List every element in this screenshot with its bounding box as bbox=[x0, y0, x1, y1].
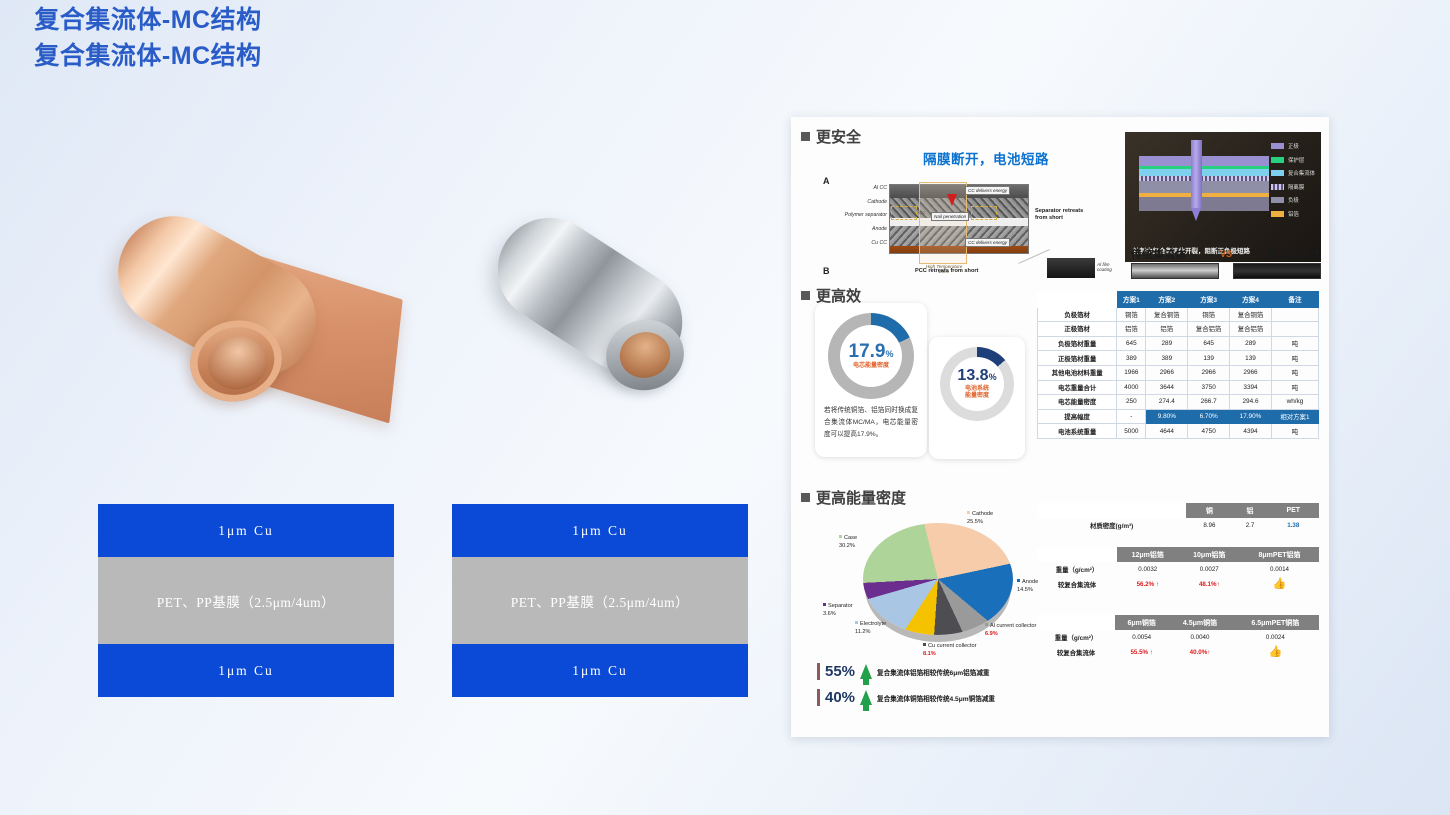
pie-label-case: Case 30.2% bbox=[839, 535, 857, 550]
scheme-comparison-table: 方案1 方案2 方案3 方案4 备注 负极箔材铜箔复合铜箔铜箔复合铜箔正极箔材铝… bbox=[1037, 291, 1319, 439]
cell: 铝箔 bbox=[1146, 322, 1188, 337]
figure-panel-a-label: A bbox=[823, 176, 830, 186]
donut-label-2: 电池系统 能量密度 bbox=[965, 386, 989, 401]
section-heading-safer-label: 更安全 bbox=[816, 126, 861, 147]
th-al-pet: 8μmPET铝箔 bbox=[1240, 547, 1319, 562]
donut-unit-1: % bbox=[885, 349, 893, 359]
donut-note-1: 若将传统铜箔、铝箔同时换成复合集流体MC/MA，电芯能量密度可以提高17.9%。 bbox=[815, 399, 927, 441]
separator-retreat-box-right bbox=[971, 206, 997, 220]
table-row: 正极箔材铝箔铝箔复合铝箔复合铝箔 bbox=[1038, 322, 1319, 337]
side-label-separator: Polymer separator bbox=[833, 213, 887, 218]
nail-penetration-animation-image: 针刺中复合集流体开裂，阻断正负极短路 正极 保护层 复合集流体 隔离膜 bbox=[1125, 132, 1321, 262]
pie-label-cathode: Cathode 25.5% bbox=[967, 511, 993, 526]
cell: 5000 bbox=[1117, 424, 1146, 439]
cell: 吨 bbox=[1271, 424, 1318, 439]
legend-item-negative: 负极 bbox=[1271, 196, 1315, 204]
donut-chart-system-density: 13.8% 电池系统 能量密度 bbox=[940, 347, 1014, 421]
row-label: 正极箔材重量 bbox=[1038, 351, 1117, 366]
cell: 9.80% bbox=[1146, 409, 1188, 424]
table-row: 提高幅度-9.80%6.70%17.90%相对方案1 bbox=[1038, 409, 1319, 424]
legend-label-separator: 隔离膜 bbox=[1288, 183, 1304, 191]
cell: 3394 bbox=[1230, 380, 1272, 395]
side-label-cathode: Cathode bbox=[833, 200, 887, 205]
cell: 645 bbox=[1117, 336, 1146, 351]
square-bullet-icon bbox=[801, 132, 810, 141]
square-bullet-icon-2 bbox=[801, 291, 810, 300]
donut-hole-1: 17.9% 电芯能量密度 bbox=[840, 325, 902, 387]
layer-bottom-cu: 1μm Cu bbox=[98, 644, 394, 697]
legend-swatch-positive bbox=[1271, 143, 1284, 149]
donut-unit-2: % bbox=[989, 372, 997, 382]
comparison-right-label: 复合集流体 bbox=[1266, 246, 1321, 262]
cell: 0.0014 bbox=[1240, 562, 1319, 576]
presentation-slide: 更安全 隔膜断开，电池短路 A B Al CC Cathode Polymer … bbox=[791, 117, 1329, 737]
aluminium-comparison-table: 12μm铝箔 10μm铝箔 8μmPET铝箔 重量（g/cm²）0.00320.… bbox=[1037, 547, 1319, 593]
cell: 复合铝箔 bbox=[1230, 322, 1272, 337]
cell: 139 bbox=[1188, 351, 1230, 366]
arrow-left-icon: ⇦ bbox=[918, 208, 925, 217]
density-value-row: 材质密度(g/m³) 8.96 2.7 1.38 bbox=[1037, 518, 1319, 532]
high-temperature-zone-box bbox=[919, 182, 967, 264]
pie-label-electrolyte: Electrolyte 11.2% bbox=[855, 621, 886, 636]
table-row: 较复合集流体55.5% ↑40.0%↑👍 bbox=[1037, 644, 1319, 660]
cell: 吨 bbox=[1271, 365, 1318, 380]
cell: 17.90% bbox=[1230, 409, 1272, 424]
density-copper: 8.96 bbox=[1186, 518, 1232, 532]
cell: 铝箔 bbox=[1117, 322, 1146, 337]
layer-mid-pet-2: PET、PP基膜（2.5μm/4um） bbox=[452, 557, 748, 644]
product-card-copper bbox=[98, 222, 398, 422]
nail-penetration-figure: A B Al CC Cathode Polymer separator Anod… bbox=[819, 170, 1119, 282]
table-row: 重量（g/cm²）0.00320.00270.0014 bbox=[1037, 562, 1319, 576]
cell: 相对方案1 bbox=[1271, 409, 1318, 424]
cell: 2966 bbox=[1188, 365, 1230, 380]
row-label: 其他电池材料重量 bbox=[1038, 365, 1117, 380]
legend-swatch-alfoil bbox=[1271, 211, 1284, 217]
legend-label-protective: 保护层 bbox=[1288, 156, 1304, 164]
legend-label-alfoil: 铝箔 bbox=[1288, 210, 1299, 218]
layer-top-cu-2: 1μm Cu bbox=[452, 504, 748, 557]
callout-bar-2 bbox=[817, 689, 820, 706]
table-row: 电池系统重量5000464447504394吨 bbox=[1038, 424, 1319, 439]
row-label: 负极箔材重量 bbox=[1038, 336, 1117, 351]
cell: 吨 bbox=[1271, 380, 1318, 395]
row-label: 较复合集流体 bbox=[1037, 576, 1117, 592]
th-pet: PET bbox=[1268, 503, 1320, 518]
cell: - bbox=[1117, 409, 1146, 424]
product-card-aluminium bbox=[460, 222, 760, 422]
pie-label-anode: Anode 14.5% bbox=[1017, 579, 1038, 594]
donut-value-2: 13.8% bbox=[957, 368, 996, 384]
cell: 250 bbox=[1117, 395, 1146, 410]
th-cu-pet: 6.5μmPET铜箔 bbox=[1232, 615, 1319, 630]
table-row: 正极箔材重量389389139139吨 bbox=[1038, 351, 1319, 366]
th-al-blank bbox=[1037, 547, 1117, 562]
photo-traditional-collector bbox=[1131, 263, 1219, 279]
table-row: 负极箔材铜箔复合铜箔铜箔复合铜箔 bbox=[1038, 307, 1319, 322]
side-label-alcc: Al CC bbox=[833, 186, 887, 191]
cell: 40.0%↑ bbox=[1168, 644, 1231, 660]
legend-item-separator: 隔离膜 bbox=[1271, 183, 1315, 191]
material-density-table: 铜 铝 PET 材质密度(g/m³) 8.96 2.7 1.38 bbox=[1037, 503, 1319, 532]
al-film-coating-label: Al film coating bbox=[1097, 262, 1119, 272]
product-title-copper: 复合集流体-MC结构 bbox=[0, 0, 296, 36]
cell: 266.7 bbox=[1188, 395, 1230, 410]
callout-nail-penetration: Nail penetration bbox=[931, 212, 969, 221]
donut-chart-cell-density: 17.9% 电芯能量密度 bbox=[828, 313, 914, 399]
cell: 0.0040 bbox=[1168, 630, 1231, 644]
cell: 48.1%↑ bbox=[1179, 576, 1241, 592]
cell: 复合铜箔 bbox=[1230, 307, 1272, 322]
layer-stack-copper: 1μm Cu PET、PP基膜（2.5μm/4um） 1μm Cu bbox=[98, 504, 394, 697]
figure-panel-b-label: B bbox=[823, 266, 830, 276]
cell: wh/kg bbox=[1271, 395, 1318, 410]
pie-label-al-collector: Al current collector 6.9% bbox=[985, 623, 1036, 638]
anim-layer-base bbox=[1139, 197, 1269, 211]
anim-layer-negative bbox=[1139, 181, 1269, 193]
cell: 6.70% bbox=[1188, 409, 1230, 424]
row-label: 电池系统重量 bbox=[1038, 424, 1117, 439]
cell: 0.0032 bbox=[1117, 562, 1179, 576]
pie-shape bbox=[863, 523, 1013, 635]
comparison-labels: 传统集流体 VS 复合集流体 bbox=[1131, 246, 1321, 262]
cell: 4000 bbox=[1117, 380, 1146, 395]
table-header-row: 方案1 方案2 方案3 方案4 备注 bbox=[1038, 292, 1319, 308]
density-pet: 1.38 bbox=[1268, 518, 1320, 532]
legend-label-composite: 复合集流体 bbox=[1288, 169, 1315, 177]
animation-layer-stack bbox=[1139, 156, 1269, 216]
photo-composite-collector bbox=[1233, 263, 1321, 279]
up-arrow-icon-1 bbox=[860, 664, 872, 679]
cell: 4750 bbox=[1188, 424, 1230, 439]
callout-40: 40% 复合集流体铜箔相较传统4.5μm铜箔减重 bbox=[817, 689, 995, 706]
legend-label-negative: 负极 bbox=[1288, 196, 1299, 204]
legend-swatch-negative bbox=[1271, 197, 1284, 203]
th-blank bbox=[1038, 292, 1117, 308]
donut-card-system-density: 13.8% 电池系统 能量密度 bbox=[929, 337, 1025, 459]
up-arrow-icon-2 bbox=[860, 690, 872, 705]
product-showcase-panel: 复合集流体-MC结构 1μm Cu PET、PP基膜（2.5μm/4um） 1μ… bbox=[0, 0, 790, 815]
callout-cc-top: CC delivers energy bbox=[965, 186, 1010, 195]
callout-bar-1 bbox=[817, 663, 820, 680]
callout-55: 55% 复合集流体铝箔相较传统6μm铝箔减重 bbox=[817, 663, 995, 680]
th-scheme4: 方案4 bbox=[1230, 292, 1272, 308]
th-scheme3: 方案3 bbox=[1188, 292, 1230, 308]
side-label-cucc: Cu CC bbox=[833, 241, 887, 246]
donut-card-cell-density: 17.9% 电芯能量密度 若将传统铜箔、铝箔同时换成复合集流体MC/MA，电芯能… bbox=[815, 303, 927, 457]
weight-reduction-callouts: 55% 复合集流体铝箔相较传统6μm铝箔减重 40% 复合集流体铜箔相较传统4.… bbox=[817, 663, 995, 715]
legend-item-positive: 正极 bbox=[1271, 142, 1315, 150]
copper-comparison-table: 6μm铜箔 4.5μm铜箔 6.5μmPET铜箔 重量（g/cm²）0.0054… bbox=[1037, 615, 1319, 661]
pie-label-separator: Separator 3.6% bbox=[823, 603, 853, 618]
cell: 274.4 bbox=[1146, 395, 1188, 410]
table-row: 重量（g/cm²）0.00540.00400.0024 bbox=[1037, 630, 1319, 644]
callout-text-2: 复合集流体铜箔相较传统4.5μm铜箔减重 bbox=[877, 693, 995, 703]
legend-swatch-separator bbox=[1271, 184, 1284, 190]
donut-value-1: 17.9% bbox=[849, 342, 894, 361]
th-al-10um: 10μm铝箔 bbox=[1179, 547, 1241, 562]
th-scheme1: 方案1 bbox=[1117, 292, 1146, 308]
nail-icon bbox=[1191, 140, 1202, 208]
animation-legend: 正极 保护层 复合集流体 隔离膜 负极 bbox=[1271, 142, 1315, 223]
callout-text-1: 复合集流体铝箔相较传统6μm铝箔减重 bbox=[877, 667, 989, 677]
th-remark: 备注 bbox=[1271, 292, 1318, 308]
th-cu-45um: 4.5μm铜箔 bbox=[1168, 615, 1231, 630]
layer-mid-pet: PET、PP基膜（2.5μm/4um） bbox=[98, 557, 394, 644]
table-row: 电芯重量合计4000364437503394吨 bbox=[1038, 380, 1319, 395]
callout-cc-bottom: CC delivers energy bbox=[965, 238, 1010, 247]
cell: 139 bbox=[1230, 351, 1272, 366]
row-label: 电芯重量合计 bbox=[1038, 380, 1117, 395]
figure-side-labels: Al CC Cathode Polymer separator Anode Cu… bbox=[833, 186, 887, 255]
energy-composition-pie-chart: Cathode 25.5% Anode 14.5% Al current col… bbox=[817, 507, 1061, 657]
legend-item-alfoil: 铝箔 bbox=[1271, 210, 1315, 218]
table-row: 其他电池材料重量1966296629662966吨 bbox=[1038, 365, 1319, 380]
section-density: 更高能量密度 Cathode 25.5% Anode 14.5% Al curr… bbox=[801, 487, 1321, 729]
cell: 0.0054 bbox=[1115, 630, 1168, 644]
layer-bottom-cu-2: 1μm Cu bbox=[452, 644, 748, 697]
cell: 55.5% ↑ bbox=[1115, 644, 1168, 660]
row-label: 电芯能量密度 bbox=[1038, 395, 1117, 410]
legend-label-positive: 正极 bbox=[1288, 142, 1299, 150]
row-label: 重量（g/cm²） bbox=[1037, 630, 1115, 644]
th-scheme2: 方案2 bbox=[1146, 292, 1188, 308]
cell: 吨 bbox=[1271, 336, 1318, 351]
nail-red-arrow-icon bbox=[947, 194, 957, 206]
cell: 2966 bbox=[1146, 365, 1188, 380]
callout-pct-2: 40% bbox=[825, 689, 855, 706]
thumbs-up-icon: 👍 bbox=[1240, 576, 1319, 592]
layer-stack-aluminium: 1μm Cu PET、PP基膜（2.5μm/4um） 1μm Cu bbox=[452, 504, 748, 697]
donut-label-1: 电芯能量密度 bbox=[853, 363, 889, 371]
section-efficient: 更高效 17.9% 电芯能量密度 若将传统铜箔、铝箔同时换成复合集流体MC/MA… bbox=[801, 285, 1321, 483]
density-row-label: 材质密度(g/m³) bbox=[1037, 518, 1186, 532]
al-film-coating-image bbox=[1047, 258, 1095, 278]
cell: 289 bbox=[1146, 336, 1188, 351]
cell: 289 bbox=[1230, 336, 1272, 351]
cell: 4394 bbox=[1230, 424, 1272, 439]
density-aluminium: 2.7 bbox=[1233, 518, 1268, 532]
square-bullet-icon-3 bbox=[801, 493, 810, 502]
cell: 389 bbox=[1146, 351, 1188, 366]
section-safer: 更安全 隔膜断开，电池短路 A B Al CC Cathode Polymer … bbox=[801, 126, 1321, 284]
aluminium-foil-roll-image bbox=[460, 222, 760, 422]
callout-pct-1: 55% bbox=[825, 663, 855, 680]
legend-swatch-composite bbox=[1271, 170, 1284, 176]
legend-item-composite: 复合集流体 bbox=[1271, 169, 1315, 177]
cell: 2966 bbox=[1230, 365, 1272, 380]
legend-swatch-protective bbox=[1271, 157, 1284, 163]
cell: 389 bbox=[1117, 351, 1146, 366]
row-label: 负极箔材 bbox=[1038, 307, 1117, 322]
th-cu-blank bbox=[1037, 615, 1115, 630]
th-cu-6um: 6μm铜箔 bbox=[1115, 615, 1168, 630]
thumbs-up-icon: 👍 bbox=[1232, 644, 1319, 660]
cell: 复合铝箔 bbox=[1188, 322, 1230, 337]
cell: 645 bbox=[1188, 336, 1230, 351]
legend-item-protective: 保护层 bbox=[1271, 156, 1315, 164]
row-label: 较复合集流体 bbox=[1037, 644, 1115, 660]
cell: 3750 bbox=[1188, 380, 1230, 395]
cell: 0.0027 bbox=[1179, 562, 1241, 576]
cell: 3644 bbox=[1146, 380, 1188, 395]
cell: 吨 bbox=[1271, 351, 1318, 366]
th-density-blank bbox=[1037, 503, 1186, 518]
section-heading-density-label: 更高能量密度 bbox=[816, 487, 906, 508]
anim-layer-composite bbox=[1139, 169, 1269, 176]
cu-header-row: 6μm铜箔 4.5μm铜箔 6.5μmPET铜箔 bbox=[1037, 615, 1319, 630]
cell: 294.6 bbox=[1230, 395, 1272, 410]
cell: 56.2% ↑ bbox=[1117, 576, 1179, 592]
separator-retreat-box-left bbox=[891, 206, 917, 220]
cell bbox=[1271, 307, 1318, 322]
comparison-photos bbox=[1131, 263, 1321, 279]
density-header-row: 铜 铝 PET bbox=[1037, 503, 1319, 518]
row-label: 重量（g/cm²） bbox=[1037, 562, 1117, 576]
comparison-left-label: 传统集流体 bbox=[1131, 246, 1186, 262]
th-aluminium: 铝 bbox=[1233, 503, 1268, 518]
table-row: 电芯能量密度250274.4266.7294.6wh/kg bbox=[1038, 395, 1319, 410]
comparison-vs-label: VS bbox=[1220, 249, 1232, 259]
al-header-row: 12μm铝箔 10μm铝箔 8μmPET铝箔 bbox=[1037, 547, 1319, 562]
safer-subtitle: 隔膜断开，电池短路 bbox=[923, 148, 1049, 168]
row-label: 提高幅度 bbox=[1038, 409, 1117, 424]
cell: 复合铜箔 bbox=[1146, 307, 1188, 322]
th-al-12um: 12μm铝箔 bbox=[1117, 547, 1179, 562]
copper-foil-roll-image bbox=[98, 222, 398, 422]
cell: 铜箔 bbox=[1188, 307, 1230, 322]
cell: 0.0024 bbox=[1232, 630, 1319, 644]
donut-hole-2: 13.8% 电池系统 能量密度 bbox=[950, 357, 1004, 411]
note-separator-retreats: Separator retreats from short bbox=[1035, 208, 1095, 222]
cell: 4644 bbox=[1146, 424, 1188, 439]
anim-layer-positive bbox=[1139, 156, 1269, 166]
row-label: 正极箔材 bbox=[1038, 322, 1117, 337]
layer-top-cu: 1μm Cu bbox=[98, 504, 394, 557]
product-title-aluminium: 复合集流体-MC结构 bbox=[0, 36, 296, 72]
cell: 铜箔 bbox=[1117, 307, 1146, 322]
table-row: 较复合集流体56.2% ↑48.1%↑👍 bbox=[1037, 576, 1319, 592]
table-row: 负极箔材重量645289645289吨 bbox=[1038, 336, 1319, 351]
th-copper: 铜 bbox=[1186, 503, 1232, 518]
cell bbox=[1271, 322, 1318, 337]
pie-label-cu-collector: Cu current collector 8.1% bbox=[923, 643, 977, 658]
side-label-anode: Anode bbox=[833, 227, 887, 232]
caption-pcc-retreats: PCC retreats from short bbox=[915, 268, 978, 275]
cell: 1966 bbox=[1117, 365, 1146, 380]
